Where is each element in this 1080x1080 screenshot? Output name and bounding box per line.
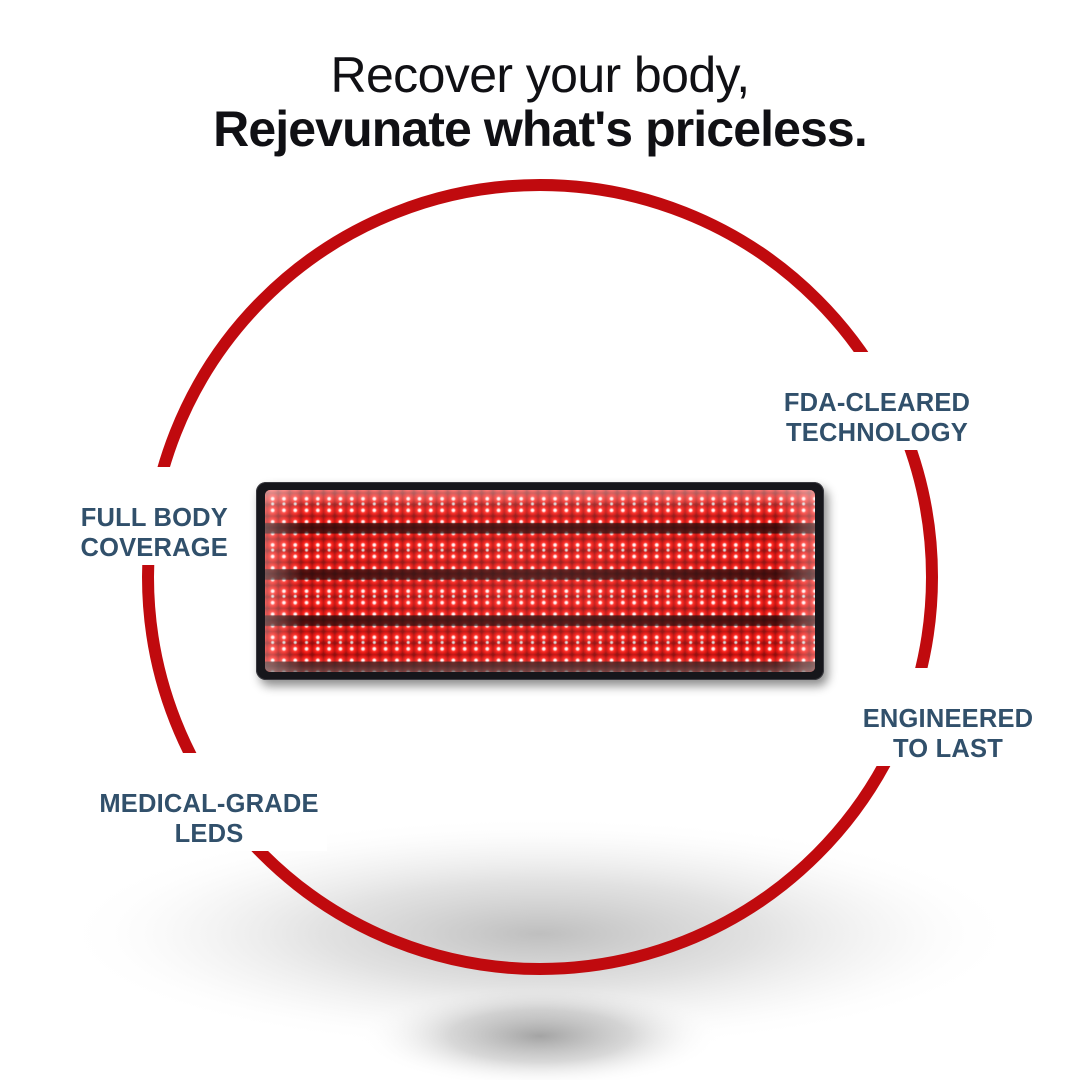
feature-text: FULL BODY COVERAGE — [72, 501, 236, 565]
feature-text: FDA-CLEARED TECHNOLOGY — [776, 386, 978, 450]
feature-text: MEDICAL-GRADE LEDS — [91, 787, 326, 851]
feature-label-full-body-coverage: FULL BODY COVERAGE — [10, 471, 236, 565]
led-panel-face — [265, 490, 815, 672]
feature-label-engineered-to-last: ENGINEERED TO LAST — [830, 672, 1066, 766]
feature-label-fda-cleared-technology: FDA-CLEARED TECHNOLOGY — [744, 356, 1010, 450]
led-panel — [256, 482, 824, 680]
panel-sheen — [265, 490, 815, 672]
feature-label-medical-grade-leds: MEDICAL-GRADE LEDS — [56, 757, 362, 851]
feature-text: ENGINEERED TO LAST — [855, 702, 1042, 766]
poster-stage: FDA-CLEARED TECHNOLOGY FULL BODY COVERAG… — [0, 0, 1080, 1080]
